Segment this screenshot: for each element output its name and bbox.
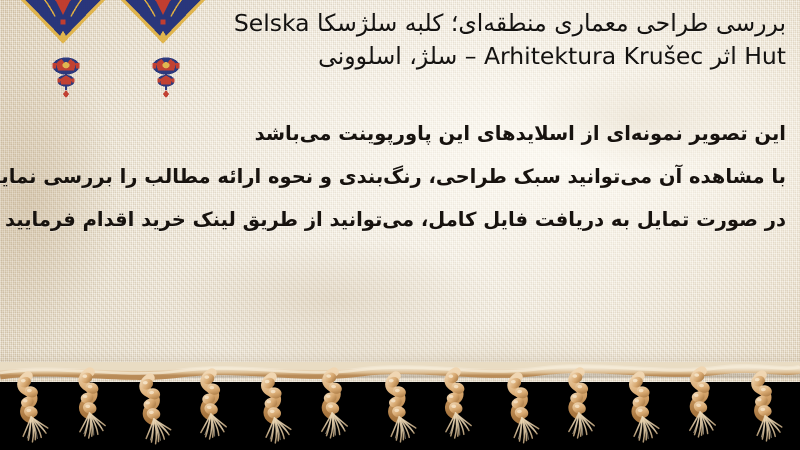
slide-canvas: بررسی طراحی معماری منطقه‌ای؛ کلبه سلژسکا…	[0, 0, 800, 450]
slide-text-layer: بررسی طراحی معماری منطقه‌ای؛ کلبه سلژسکا…	[0, 0, 800, 382]
title-line-2: Hut اثر Arhitektura Krušec – سلژ، اسلوون…	[6, 40, 786, 73]
body-line-3: در صورت تمایل به دریافت فایل کامل، می‌تو…	[6, 198, 786, 241]
carpet-tassel-fringe	[0, 362, 800, 450]
slide-title: بررسی طراحی معماری منطقه‌ای؛ کلبه سلژسکا…	[6, 7, 786, 73]
slide-body: این تصویر نمونه‌ای از اسلایدهای این پاور…	[6, 112, 786, 241]
title-line-1: بررسی طراحی معماری منطقه‌ای؛ کلبه سلژسکا…	[6, 7, 786, 40]
body-line-2: با مشاهده آن می‌توانید سبک طراحی، رنگ‌بن…	[6, 155, 786, 198]
body-line-1: این تصویر نمونه‌ای از اسلایدهای این پاور…	[6, 112, 786, 155]
